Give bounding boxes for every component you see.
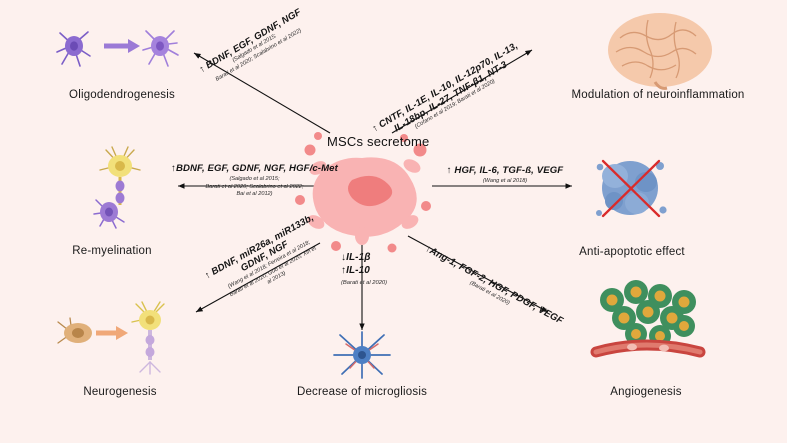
node-label-microgliosis: Decrease of microgliosis xyxy=(272,386,452,398)
arrow-label-remyelination: ↑BDNF, EGF, GDNF, NGF, HGF/c-Met (Salgad… xyxy=(182,163,327,199)
node-label-anti-apoptotic: Anti-apoptotic effect xyxy=(542,246,722,258)
arrow-factors-microgliosis-line2: ↑IL-10 xyxy=(341,265,370,278)
arrow-factors-anti-apoptotic: ↑ HGF, IL-6, TGF-ß, VEGF xyxy=(447,165,563,176)
node-label-oligodendrogenesis: Oligodendrogenesis xyxy=(32,89,212,101)
arrow-factors-remyelination: ↑BDNF, EGF, GDNF, NGF, HGF/c-Met xyxy=(171,163,338,174)
node-label-neurogenesis: Neurogenesis xyxy=(30,386,210,398)
node-label-neuroinflammation: Modulation of neuroinflammation xyxy=(548,89,768,101)
neuron-myelination-icon xyxy=(94,147,140,228)
apoptotic-cell-crossed-icon xyxy=(596,161,667,216)
arrow-label-microgliosis: ↓IL-1β ↑IL-10 (Barati et al 2020) xyxy=(341,252,387,288)
arrow-citation-remyelination: (Salgado et al 2015; Barati et al 2020; … xyxy=(206,176,304,199)
neurogenesis-icon xyxy=(58,302,164,374)
arrow-citation-microgliosis: (Barati et al 2020) xyxy=(341,280,387,288)
arrow-citation-anti-apoptotic: (Wang et al 2018) xyxy=(483,178,527,186)
arrow-factors-microgliosis-line1: ↓IL-1β xyxy=(341,252,371,265)
blood-vessel-icon xyxy=(596,280,700,352)
arrow-label-anti-apoptotic: ↑ HGF, IL-6, TGF-ß, VEGF (Wang et al 201… xyxy=(440,165,570,186)
node-label-angiogenesis: Angiogenesis xyxy=(556,386,736,398)
oligodendrocyte-differentiation-icon xyxy=(57,31,178,66)
brain-icon xyxy=(608,13,712,88)
microglia-icon xyxy=(334,332,390,378)
node-label-remyelination: Re-myelination xyxy=(22,245,202,257)
arrow-layer xyxy=(0,0,787,443)
figure-canvas: MSCs secretome Oligodendrogenesis Re-mye… xyxy=(0,0,787,443)
